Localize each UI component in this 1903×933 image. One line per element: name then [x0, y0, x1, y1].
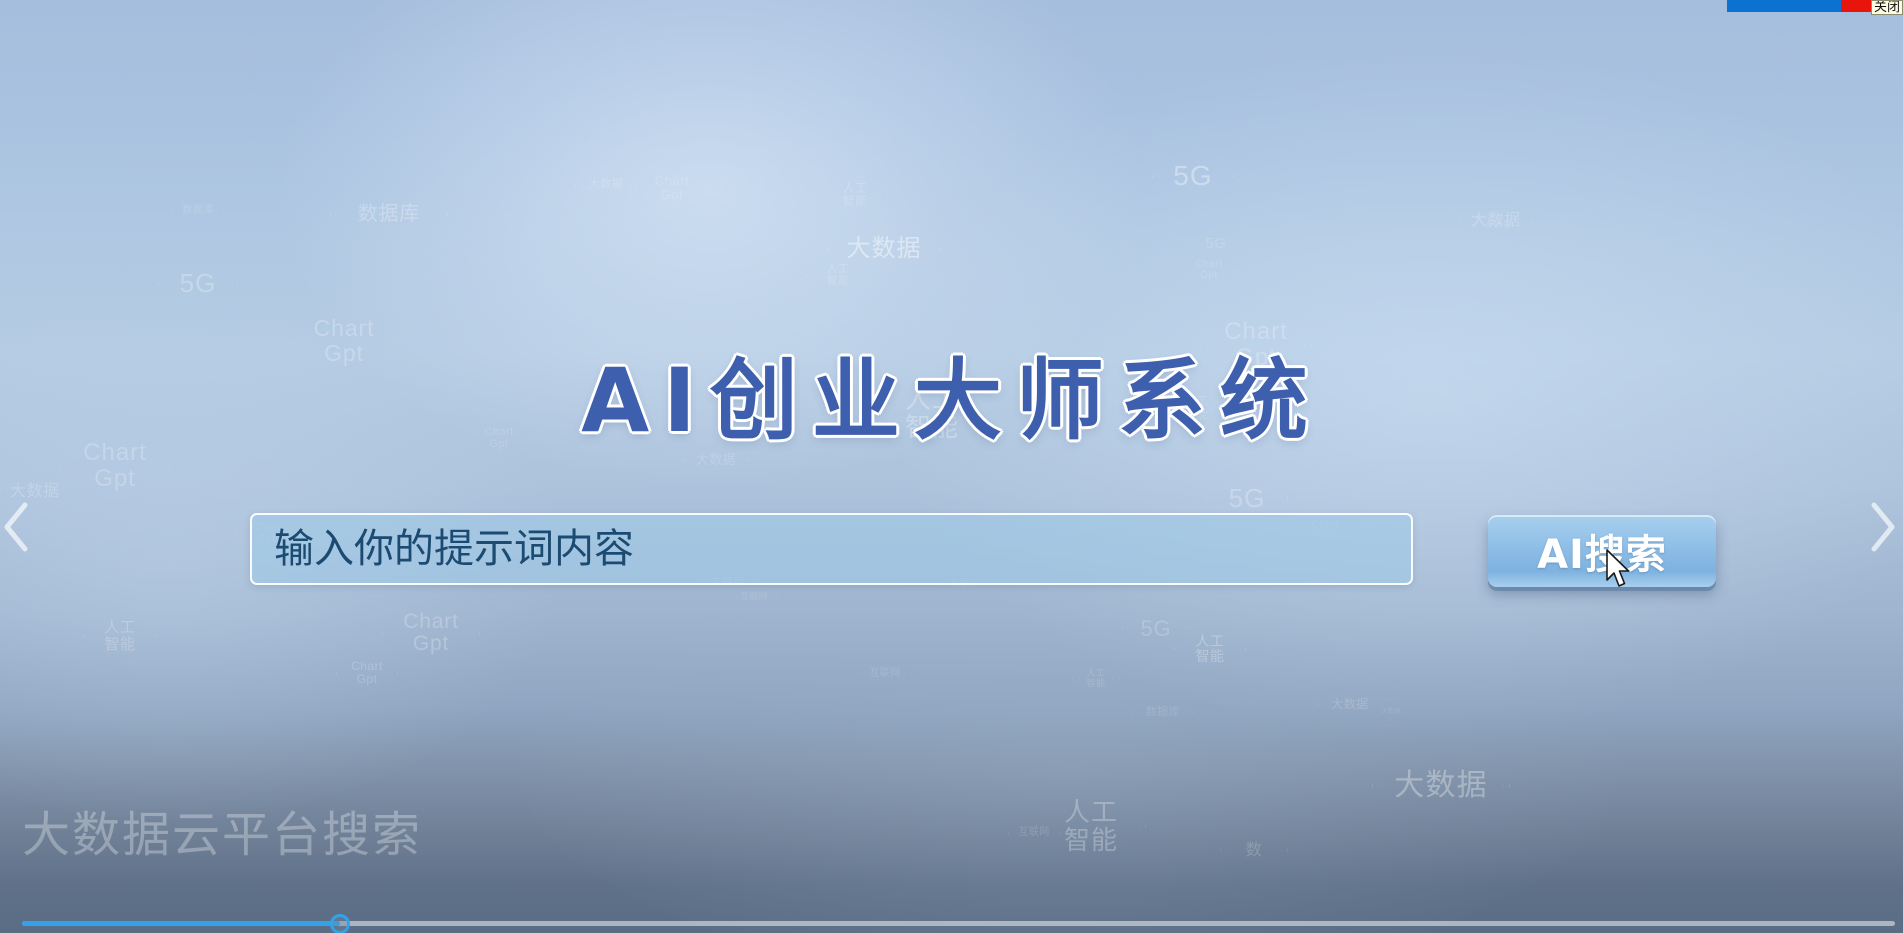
title-container: AI创业大师系统	[0, 330, 1903, 457]
decoration-hexagon: 大数据	[1460, 180, 1532, 261]
decoration-hexagon-label: 5G	[180, 269, 217, 297]
decoration-hexagon-label: Chart Gpt	[83, 440, 147, 492]
decoration-hexagon-label: Chart Gpt	[1196, 260, 1222, 282]
decoration-hexagon: 人工 智能	[84, 596, 156, 677]
chevron-right-icon	[1867, 501, 1897, 553]
decoration-hexagon-label: 数	[1246, 842, 1263, 859]
background-glow-b	[880, 40, 1903, 740]
decoration-hexagon-label: 5G	[1173, 161, 1213, 191]
decoration-hexagon: 数据库	[1132, 678, 1194, 748]
decoration-hexagon-label: 大数据	[589, 179, 623, 191]
decoration-hexagon-label: 大数据	[1471, 212, 1521, 229]
decoration-hexagon: 5G	[1152, 130, 1234, 223]
page-title: AI创业大师系统	[581, 330, 1322, 457]
decoration-hexagon: Chart Gpt	[60, 404, 170, 528]
decoration-hexagon: 5G	[158, 238, 238, 328]
search-input[interactable]	[250, 513, 1413, 585]
decoration-hexagon-label: 大数据	[847, 236, 922, 262]
decoration-hexagon-label: 大数据	[1382, 709, 1401, 715]
close-tooltip: 关闭	[1871, 0, 1903, 15]
decoration-hexagon-label: Chart Gpt	[1224, 319, 1288, 371]
decoration-hexagon-label: Chart Gpt	[351, 660, 383, 686]
decoration-hexagon: 人工 智能	[1162, 370, 1230, 447]
decoration-hexagon-label: Chart Gpt	[655, 174, 689, 202]
decoration-hexagon: 大数据	[1318, 668, 1382, 740]
decoration-hexagon-label: 人工 智能	[827, 264, 850, 288]
slide-stage: 数据库大数据Chart Gpt人工 智能大数据人工 智能5G5GChart Gp…	[0, 0, 1903, 933]
decoration-hexagon-label: 数据库	[358, 204, 420, 226]
decoration-hexagon: 大数据	[1475, 200, 1521, 252]
decoration-hexagon: Chart Gpt	[382, 578, 480, 689]
decoration-hexagon: Chart Gpt	[336, 638, 398, 708]
decoration-hexagon-label: Chart Gpt	[314, 316, 375, 366]
decoration-hexagon-label: 互联网	[1053, 380, 1087, 392]
decoration-hexagon-label: 大数据	[1331, 698, 1368, 711]
decoration-hexagon-label: 大数据	[696, 453, 737, 467]
decoration-hexagon-label: 5G	[1229, 484, 1266, 512]
decoration-hexagon: Chart Gpt	[1200, 282, 1312, 409]
browser-chrome-strip: 关闭	[1727, 0, 1903, 15]
decoration-hexagon: 人工 智能	[1072, 652, 1120, 706]
progress-fill	[22, 921, 340, 926]
decoration-hexagon: 5G	[1122, 590, 1190, 667]
decoration-hexagon-label: 人工 智能	[843, 182, 868, 208]
decoration-hexagon: 互联网	[1008, 804, 1060, 863]
decoration-hexagon: Chart Gpt	[468, 404, 530, 474]
background-glow-a	[260, 0, 1160, 500]
decoration-hexagon-label: 人工 智能	[905, 385, 959, 441]
decoration-hexagon: 互联网	[858, 644, 912, 705]
decoration-hexagon-label: 5G	[1140, 617, 1171, 641]
decoration-hexagon: 互联网	[1040, 352, 1100, 420]
window-close-button[interactable]	[1841, 0, 1871, 12]
decoration-hexagon: 大数据	[575, 150, 637, 220]
decoration-hexagon-label: 互联网	[1018, 828, 1049, 839]
decoration-hexagon-label: 互联网	[740, 592, 768, 602]
watermark-text: 大数据云平台搜索	[22, 795, 422, 865]
decoration-hexagon-label: 大数据	[1484, 221, 1512, 231]
decoration-hexagon: 人工 智能	[1174, 608, 1246, 689]
decoration-hexagon-label: 人工 智能	[1087, 669, 1106, 688]
decoration-hexagon-label: 人工 智能	[1184, 395, 1209, 421]
decoration-hexagon: Chart Gpt	[290, 280, 398, 402]
chevron-left-icon	[2, 501, 32, 553]
search-row: AI搜索	[250, 513, 1413, 585]
decoration-hexagon: Chart Gpt	[635, 146, 709, 230]
decoration-hexagon: 人工 智能	[806, 240, 870, 312]
decoration-hexagon-label: 大数据	[1394, 770, 1488, 802]
decoration-hexagon-label: 人工 智能	[1064, 798, 1118, 854]
decoration-hexagon: 大数据	[1380, 700, 1402, 725]
ai-search-button[interactable]: AI搜索	[1488, 515, 1716, 587]
decoration-hexagon-label: 数据库	[182, 206, 213, 217]
decoration-hexagon: Chart Gpt	[1182, 240, 1236, 301]
decoration-hexagon: 人工 智能	[1036, 764, 1146, 888]
background-glow-d	[520, 560, 1620, 933]
decoration-hexagon-label: Chart Gpt	[484, 427, 513, 451]
decoration-hexagon: 数	[1220, 812, 1288, 889]
decoration-hexagon: 数据库	[172, 182, 224, 241]
decoration-hexagon-label: 互联网	[869, 669, 900, 680]
decoration-hexagon: 大数据	[684, 424, 748, 496]
carousel-prev-button[interactable]	[0, 487, 44, 567]
decoration-hexagon: 大数据	[1372, 708, 1510, 864]
decoration-hexagon: 大数据	[828, 186, 940, 313]
decoration-hexagon: 人工 智能	[822, 158, 888, 233]
progress-bar[interactable]	[22, 915, 1895, 931]
decoration-hexagon: 数据库	[330, 148, 448, 281]
decoration-hexagon-label: 5G	[1205, 236, 1226, 252]
carousel-next-button[interactable]	[1855, 487, 1903, 567]
decoration-hexagon: 人工 智能	[878, 352, 986, 474]
decoration-hexagon-label: 人工 智能	[104, 620, 135, 652]
decoration-hexagon-label: Chart Gpt	[403, 611, 459, 656]
decoration-hexagon: 5G	[1190, 215, 1242, 274]
decoration-hexagon-label: 人工 智能	[1195, 634, 1224, 664]
decoration-hexagon-label: 数据库	[1146, 707, 1180, 719]
progress-handle[interactable]	[330, 914, 350, 933]
browser-titlebar-strip	[1727, 0, 1841, 12]
